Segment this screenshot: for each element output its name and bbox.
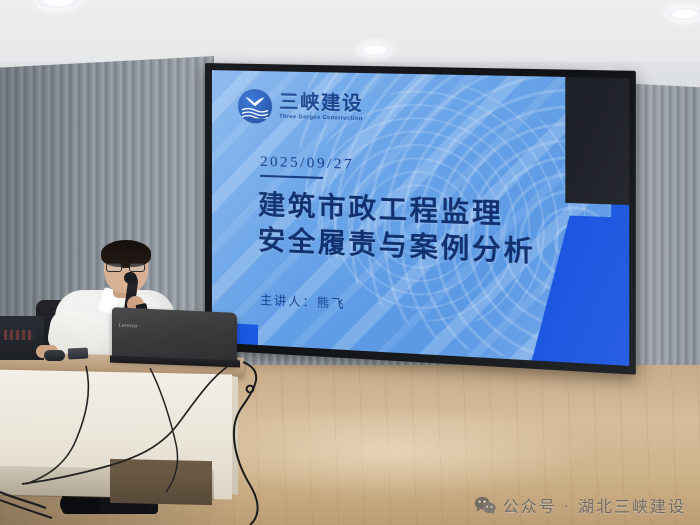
ceiling-back-plane (0, 0, 700, 62)
company-logo: 三峡建设 Three Gorges Construction (238, 89, 363, 126)
laptop-brand-label: Lenovo (119, 323, 135, 330)
computer-mouse[interactable] (44, 350, 65, 361)
logo-company-name-en: Three Gorges Construction (279, 115, 363, 123)
watermark: 公众号 · 湖北三峡建设 (474, 493, 686, 517)
led-video-wall[interactable]: 三峡建设 Three Gorges Construction 2025/09/2… (205, 63, 636, 375)
floor-light-reflection (180, 407, 600, 497)
glasses-lens-right (129, 263, 145, 272)
downlight-4-icon (668, 8, 700, 20)
bird-glyph (244, 96, 265, 108)
three-gorges-emblem-icon (238, 89, 272, 124)
glasses-lens-left (106, 263, 122, 272)
logo-company-name-cn: 三峡建设 (279, 93, 363, 114)
wechat-icon (474, 496, 496, 515)
display-unlit-corner (565, 77, 629, 205)
side-equipment-indicators (4, 330, 34, 340)
slide-title: 建筑市政工程监理 安全履责与案例分析 (258, 188, 535, 271)
wave-glyph (242, 108, 268, 119)
eyeglasses-icon (105, 263, 147, 272)
mobile-phone[interactable] (68, 347, 89, 359)
conference-room-photo: 三峡建设 Three Gorges Construction 2025/09/2… (0, 0, 700, 525)
glasses-bridge (122, 267, 129, 268)
downlight-2-icon (360, 44, 390, 56)
desk-kick-shadow (0, 466, 214, 501)
display-bezel: 三峡建设 Three Gorges Construction 2025/09/2… (205, 63, 636, 375)
logo-text-block: 三峡建设 Three Gorges Construction (279, 93, 363, 123)
display-screen[interactable]: 三峡建设 Three Gorges Construction 2025/09/2… (212, 70, 629, 366)
watermark-text: 公众号 · 湖北三峡建设 (503, 493, 686, 517)
slide-date: 2025/09/27 (260, 154, 354, 174)
